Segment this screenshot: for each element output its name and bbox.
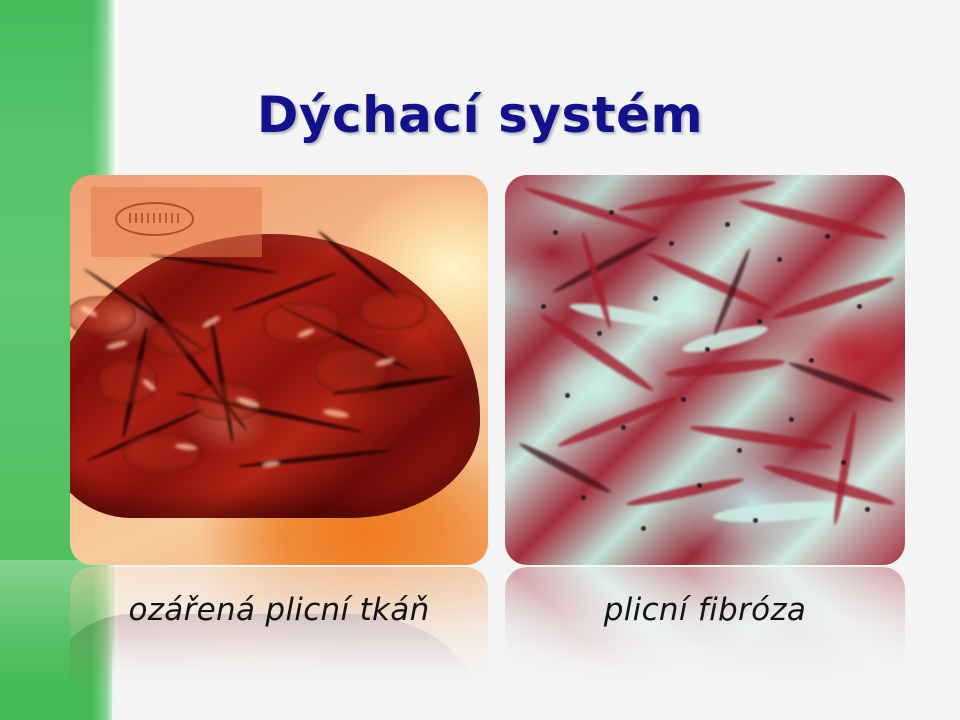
page-title: Dýchací systém (0, 86, 960, 144)
histology-background (505, 175, 905, 565)
afip-stamp (91, 187, 262, 257)
figure-left-reflection (70, 567, 488, 697)
figure-left-image[interactable] (70, 175, 488, 565)
lung-specimen (70, 234, 480, 519)
figure-right-reflection (505, 567, 905, 697)
figure-right-image[interactable] (505, 175, 905, 565)
figure-left-caption: ozářená plicní tkáň (70, 592, 488, 628)
figure-right[interactable] (505, 175, 905, 565)
afip-oval-icon (115, 202, 194, 235)
figure-right-caption: plicní fibróza (505, 592, 905, 628)
figure-left[interactable] (70, 175, 488, 565)
slide-canvas: Dýchací systém (0, 0, 960, 720)
gross-photo-background (70, 175, 488, 565)
